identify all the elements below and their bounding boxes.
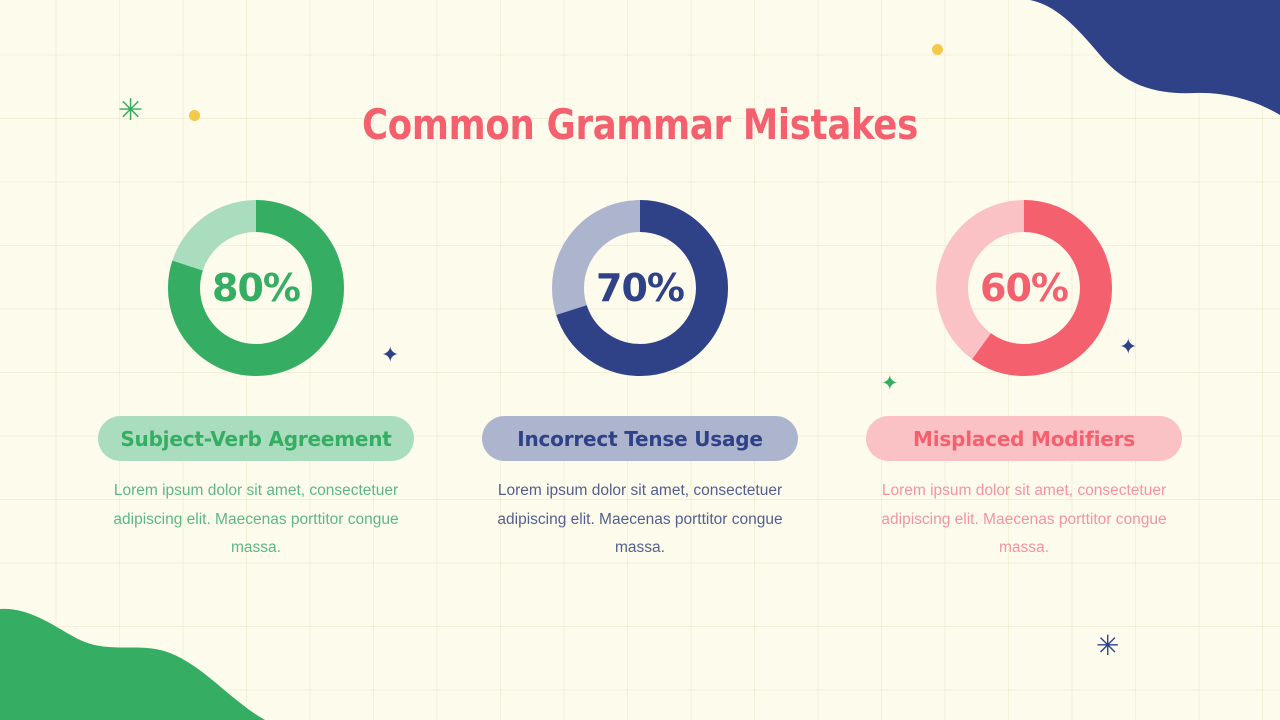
donut-chart-misplaced-modifiers: 60% [936,200,1112,376]
stats-columns: 80% Subject-Verb Agreement Lorem ipsum d… [0,200,1280,563]
stat-column-incorrect-tense-usage: 70% Incorrect Tense Usage Lorem ipsum do… [482,200,798,563]
pill-label-misplaced-modifiers[interactable]: Misplaced Modifiers [866,416,1182,461]
body-text-misplaced-modifiers: Lorem ipsum dolor sit amet, consectetuer… [876,477,1172,563]
page-title: Common Grammar Mistakes [38,100,1241,149]
body-text-incorrect-tense-usage: Lorem ipsum dolor sit amet, consectetuer… [492,477,788,563]
donut-percent-label: 80% [168,200,344,376]
body-text-subject-verb-agreement: Lorem ipsum dolor sit amet, consectetuer… [108,477,404,563]
pill-label-subject-verb-agreement[interactable]: Subject-Verb Agreement [98,416,414,461]
donut-percent-label: 70% [552,200,728,376]
stat-column-misplaced-modifiers: 60% Misplaced Modifiers Lorem ipsum dolo… [866,200,1182,563]
donut-chart-subject-verb-agreement: 80% [168,200,344,376]
stat-column-subject-verb-agreement: 80% Subject-Verb Agreement Lorem ipsum d… [98,200,414,563]
donut-chart-incorrect-tense-usage: 70% [552,200,728,376]
donut-percent-label: 60% [936,200,1112,376]
slide-stage: Common Grammar Mistakes 80% Subject-Verb… [0,0,1280,720]
pill-label-incorrect-tense-usage[interactable]: Incorrect Tense Usage [482,416,798,461]
